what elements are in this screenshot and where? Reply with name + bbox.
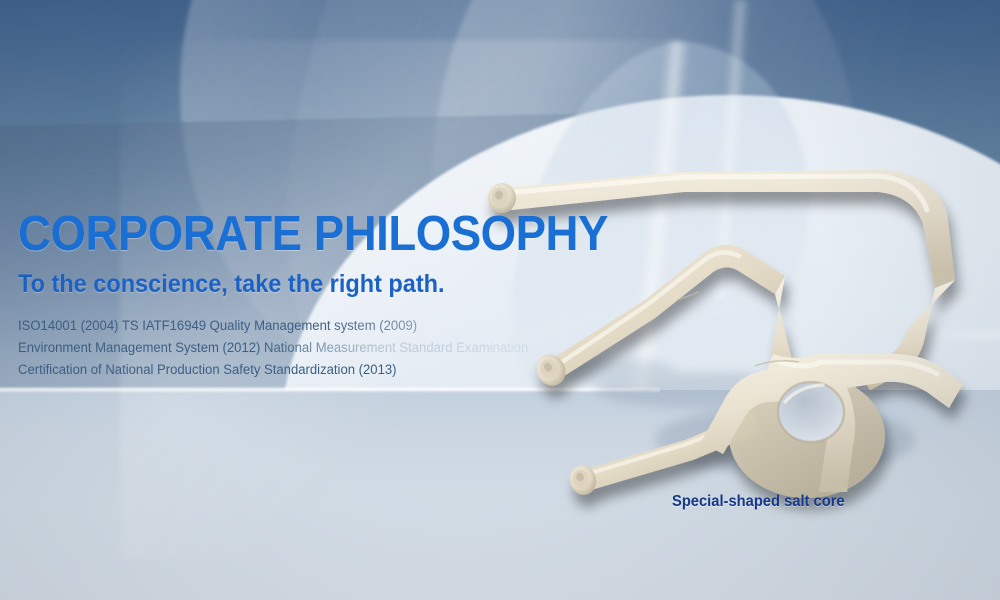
page-subtitle: To the conscience, take the right path. — [18, 271, 582, 299]
page-title: CORPORATE PHILOSOPHY — [18, 210, 576, 259]
product-caption: Special-shaped salt core — [672, 493, 845, 511]
corporate-philosophy-banner: CORPORATE PHILOSOPHY To the conscience, … — [0, 0, 1000, 600]
certification-list: ISO14001 (2004) TS IATF16949 Quality Man… — [18, 315, 618, 381]
certification-line: ISO14001 (2004) TS IATF16949 Quality Man… — [18, 315, 600, 337]
certification-line: Certification of National Production Saf… — [18, 359, 600, 381]
certification-line: Environment Management System (2012) Nat… — [18, 337, 600, 359]
headline-text-block: CORPORATE PHILOSOPHY To the conscience, … — [18, 210, 618, 381]
